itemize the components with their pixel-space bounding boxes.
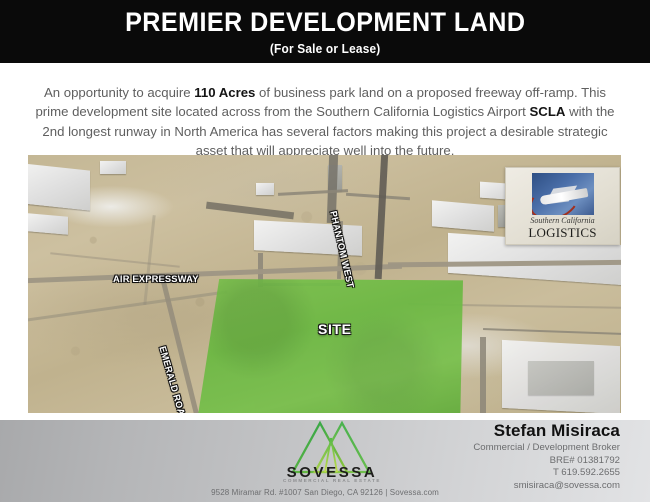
broker-phone[interactable]: T 619.592.2655 (360, 467, 620, 480)
map-building (432, 200, 494, 231)
site-label: SITE (318, 321, 352, 337)
map-road (480, 337, 486, 413)
map-label-air-expressway: AIR EXPRESSWAY (113, 274, 199, 284)
scla-logo: Southern California LOGISTICS AIRPORT (505, 167, 620, 245)
header-banner: PREMIER DEVELOPMENT LAND (For Sale or Le… (0, 0, 650, 63)
site-parcel-overlay[interactable] (198, 279, 463, 413)
broker-role: Commercial / Development Broker (360, 442, 620, 455)
page-title: PREMIER DEVELOPMENT LAND (125, 9, 525, 36)
page-subtitle: (For Sale or Lease) (270, 42, 381, 56)
map-building (528, 361, 594, 395)
map-building (256, 183, 274, 195)
map-building (100, 161, 126, 174)
acreage-highlight: 110 Acres (194, 85, 255, 100)
scla-logo-line1: Southern California (506, 216, 619, 225)
broker-license: BRE# 01381792 (360, 455, 620, 468)
footer-address: 9528 Miramar Rd. #1007 San Diego, CA 921… (0, 488, 650, 497)
contact-block: Stefan Misiraca Commercial / Development… (360, 420, 620, 492)
map-building (28, 213, 68, 234)
scla-highlight: SCLA (530, 104, 566, 119)
scla-airplane-photo (532, 173, 594, 215)
broker-name: Stefan Misiraca (360, 420, 620, 442)
scla-logo-line2: LOGISTICS AIRPORT (506, 225, 619, 245)
description-paragraph: An opportunity to acquire 110 Acres of b… (29, 83, 621, 160)
map-building (28, 163, 90, 210)
description-part-1: An opportunity to acquire (44, 85, 194, 100)
aerial-map[interactable]: SITE AIR EXPRESSWAY PHANTOM WEST EMERALD… (28, 155, 621, 413)
